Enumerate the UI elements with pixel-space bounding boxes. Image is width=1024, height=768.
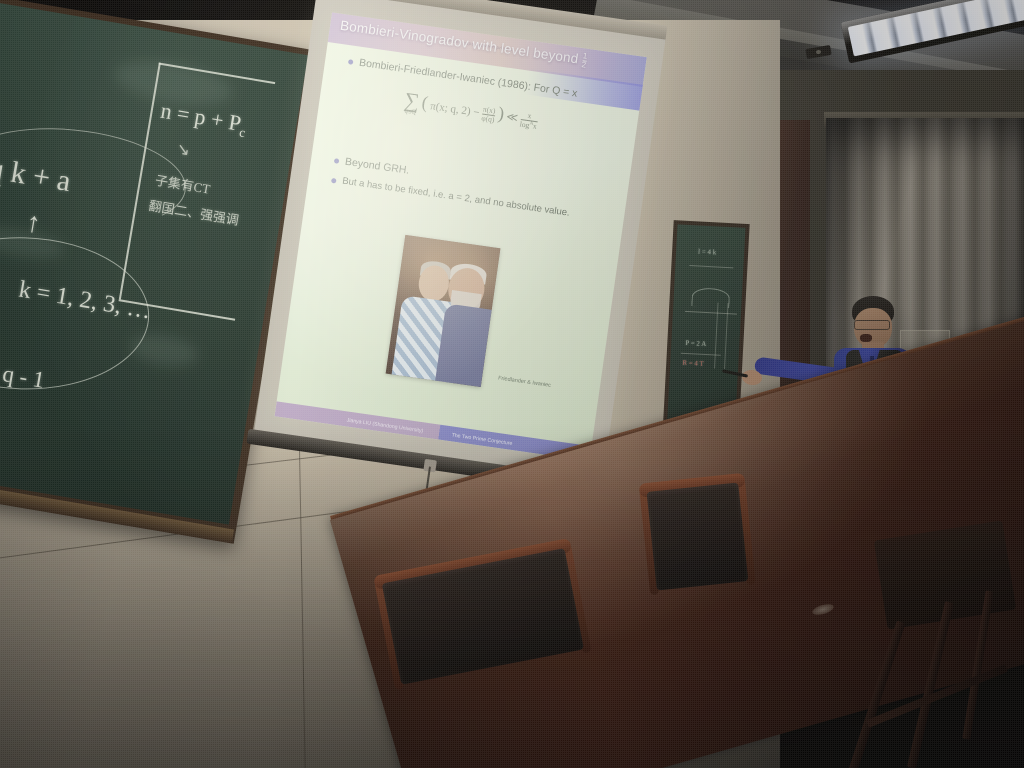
photo-person-b-body	[435, 303, 501, 387]
formula-frac-den: φ(q)	[481, 113, 495, 124]
slide-bullet-3: But a has to be fixed, i.e. a = 2, and n…	[342, 176, 571, 219]
chalk-curve-arrow: ↘	[175, 139, 192, 161]
chair[interactable]	[639, 473, 756, 591]
slide-photo-friedlander-iwaniec	[386, 235, 501, 387]
formula-sum-subscript: q≤Q	[402, 109, 418, 116]
chalk-equation-n: n = p + Pc	[158, 98, 249, 141]
formula-close-paren: )	[497, 103, 506, 124]
chalk-note-cn-2: 翻国二、强强调	[148, 195, 241, 229]
formula-relation: ≪	[506, 111, 519, 125]
formula-term-1: π(x; q, 2) −	[429, 100, 480, 119]
formula-fraction: π(x) φ(q)	[481, 106, 496, 124]
formula-rhs-den: logAx	[519, 119, 537, 131]
chair-legs	[862, 600, 1024, 768]
projection-screen: Bounded gaps between primes Bombieri-Vin…	[251, 0, 666, 505]
chalk-equation-sub: c	[238, 124, 246, 140]
screen-pull-handle[interactable]	[423, 459, 437, 473]
formula-sum-symbol: ∑ q≤Q	[402, 92, 420, 116]
slide-bullet-2: Beyond GRH.	[344, 156, 410, 177]
lecture-hall-photo: q k + a ↑ k = 1, 2, 3, … a = 1 1 ≤ a ≤ q…	[0, 0, 1024, 768]
chair-backrest-pad	[647, 482, 749, 590]
chalk2-line-2: P = 2 A	[685, 339, 706, 348]
chalk2-line-1: l = 4 k	[698, 247, 717, 256]
glasses-icon	[854, 320, 890, 330]
presenter-mouth	[860, 334, 872, 342]
formula-rhs: x logAx	[519, 111, 538, 130]
chalk2-line-3-red: R = 4 T	[682, 359, 704, 368]
slide-photo-caption: Friedlander & Iwaniec	[498, 375, 552, 388]
formula-open-paren: (	[421, 92, 430, 113]
slide-formula: ∑ q≤Q ( π(x; q, 2) − π(x) φ(q) ) ≪ x log…	[402, 90, 539, 133]
projected-slide: Bounded gaps between primes Bombieri-Vin…	[275, 12, 647, 461]
chalk-equation-text: n = p + P	[159, 98, 243, 136]
